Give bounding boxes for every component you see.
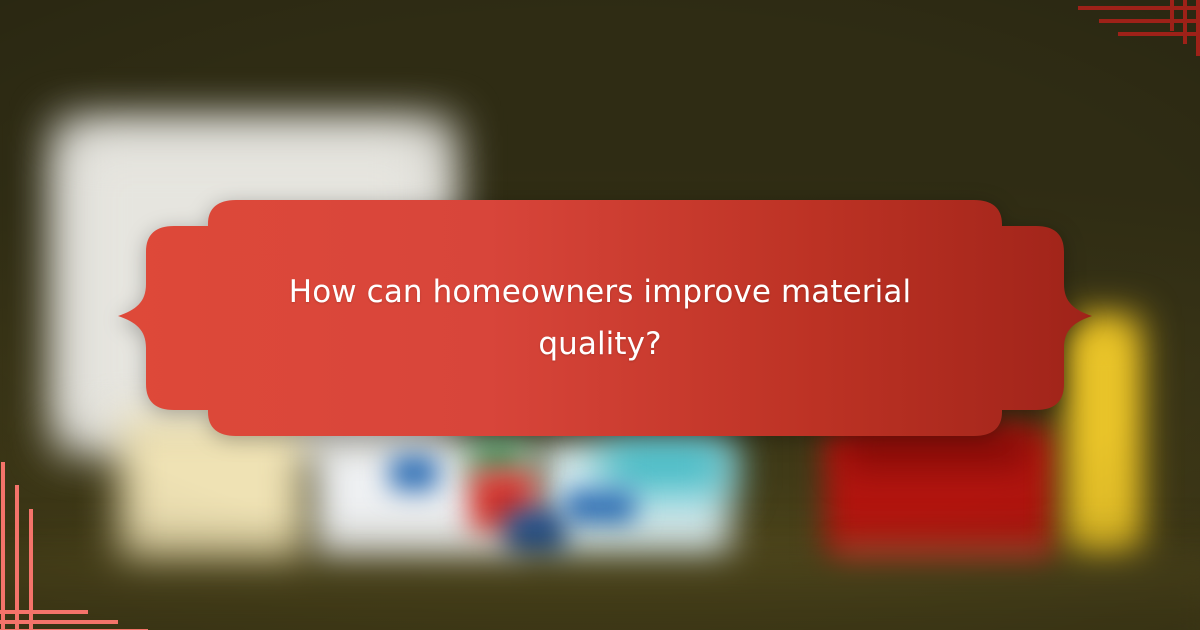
ornament-line-v1 bbox=[1196, 0, 1200, 56]
ornament-line-h1 bbox=[0, 610, 88, 614]
ornament-line-h3 bbox=[1118, 32, 1200, 36]
question-text-line-1: How can homeowners improve material bbox=[289, 266, 911, 318]
quote-card-graphic: How can homeowners improve material qual… bbox=[0, 0, 1200, 630]
ornament-line-h2 bbox=[0, 620, 118, 624]
ornament-line-v3 bbox=[1170, 0, 1174, 31]
ornament-line-h1 bbox=[1078, 6, 1200, 10]
ornament-line-v2 bbox=[15, 485, 19, 630]
question-text-line-2: quality? bbox=[538, 318, 661, 370]
question-card-text: How can homeowners improve material qual… bbox=[106, 198, 1094, 438]
ornament-line-v1 bbox=[1, 462, 5, 630]
question-card: How can homeowners improve material qual… bbox=[106, 198, 1094, 438]
ornament-line-v2 bbox=[1183, 0, 1187, 44]
